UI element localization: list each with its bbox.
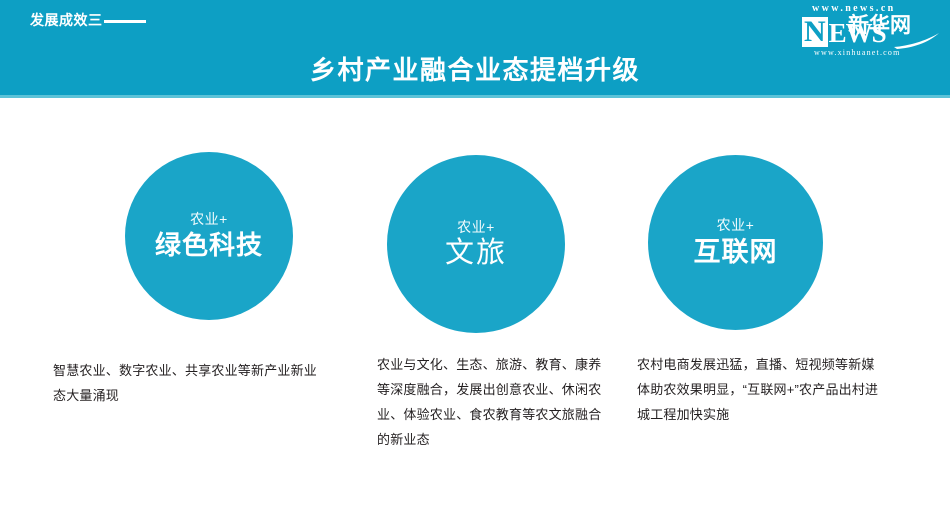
logo-n-glyph: N bbox=[802, 17, 828, 47]
circle-prefix-label: 农业+ bbox=[457, 220, 495, 234]
logo-bottom-url: www.xinhuanet.com bbox=[814, 48, 901, 57]
caption-internet: 农村电商发展迅猛，直播、短视频等新媒体助农效果明显，“互联网+”农产品出村进城工… bbox=[637, 352, 881, 427]
caption-culture-tourism: 农业与文化、生态、旅游、教育、康养等深度融合，发展出创意农业、休闲农业、体验农业… bbox=[377, 352, 603, 452]
circle-main-label: 互联网 bbox=[694, 238, 778, 266]
circle-main-label: 文旅 bbox=[445, 238, 507, 268]
slide-canvas: 发展成效三 乡村产业融合业态提档升级 www.news.cn NEWS 新华网 … bbox=[0, 0, 950, 515]
header-band-edge bbox=[0, 95, 950, 98]
eyebrow-label: 发展成效三 bbox=[30, 10, 146, 30]
swoosh-icon bbox=[894, 33, 940, 49]
concept-circle-culture-tourism: 农业+ 文旅 bbox=[387, 155, 565, 333]
eyebrow-text: 发展成效三 bbox=[30, 10, 103, 30]
concept-circle-green-tech: 农业+ 绿色科技 bbox=[125, 152, 293, 320]
caption-green-tech: 智慧农业、数字农业、共享农业等新产业新业态大量涌现 bbox=[53, 358, 321, 408]
circle-main-label: 绿色科技 bbox=[155, 232, 263, 259]
circle-prefix-label: 农业+ bbox=[717, 218, 755, 232]
xinhuanet-logo[interactable]: www.news.cn NEWS 新华网 www.xinhuanet.com bbox=[796, 3, 942, 59]
eyebrow-dash-rule bbox=[104, 20, 146, 23]
concept-circle-internet: 农业+ 互联网 bbox=[648, 155, 823, 330]
logo-top-url: www.news.cn bbox=[812, 3, 896, 14]
circle-prefix-label: 农业+ bbox=[190, 212, 228, 226]
